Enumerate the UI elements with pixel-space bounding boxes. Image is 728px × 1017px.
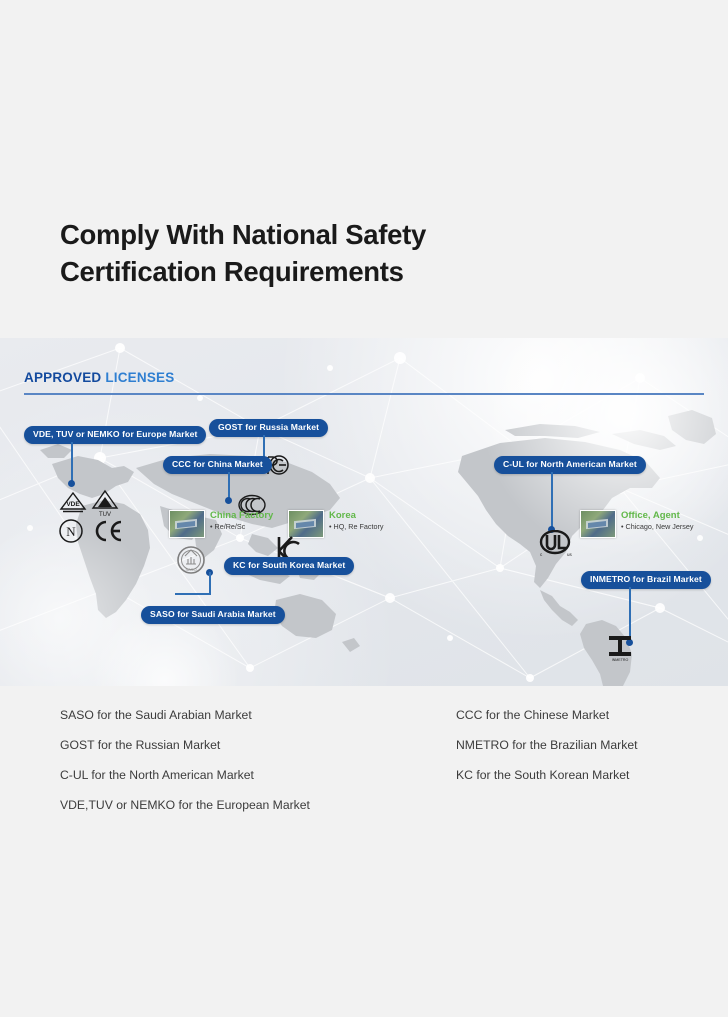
- facility-photo-china: [169, 510, 205, 538]
- nemko-mark-icon: N: [58, 518, 84, 544]
- facility-name-korea: Korea: [329, 510, 383, 521]
- tuv-mark-icon: TUV: [90, 488, 120, 518]
- facility-sub-china: • Re/Re/Sc: [210, 522, 273, 532]
- inmetro-mark-icon: INMETRO: [605, 632, 635, 662]
- leader-line-europe: [71, 442, 73, 482]
- list-item: NMETRO for the Brazilian Market: [456, 730, 638, 760]
- license-list-left-column: SASO for the Saudi Arabian Market GOST f…: [60, 700, 310, 820]
- leader-dot-china: [225, 497, 232, 504]
- page-title-line-2: Certification Requirements: [60, 253, 620, 290]
- page-root: Comply With National Safety Certificatio…: [0, 0, 728, 1017]
- ul-mark-icon: c us: [536, 530, 574, 558]
- badge-korea[interactable]: KC for South Korea Market: [224, 557, 354, 575]
- facility-name-office: Office, Agent: [621, 510, 693, 521]
- svg-text:SASO: SASO: [185, 567, 196, 572]
- leader-line-saudi-h: [175, 593, 211, 595]
- world-map-panel: APPROVED LICENSES VDE, TUV or NEMKO for …: [0, 338, 728, 686]
- badge-brazil[interactable]: INMETRO for Brazil Market: [581, 571, 711, 589]
- leader-line-north-america: [551, 472, 553, 528]
- license-list-right-column: CCC for the Chinese Market NMETRO for th…: [456, 700, 638, 790]
- list-item: VDE,TUV or NEMKO for the European Market: [60, 790, 310, 820]
- leader-dot-europe: [68, 480, 75, 487]
- leader-line-saudi-v: [209, 572, 211, 594]
- ce-mark-icon: [90, 518, 124, 544]
- svg-text:VDE: VDE: [66, 501, 80, 508]
- svg-text:c: c: [540, 552, 543, 557]
- svg-text:us: us: [567, 552, 573, 557]
- page-title: Comply With National Safety Certificatio…: [60, 216, 620, 290]
- page-title-line-1: Comply With National Safety: [60, 216, 620, 253]
- facility-photo-office: [580, 510, 616, 538]
- heading-approved: APPROVED: [24, 370, 101, 385]
- badge-russia[interactable]: GOST for Russia Market: [209, 419, 328, 437]
- facility-china-factory: China Factory • Re/Re/Sc: [169, 510, 273, 538]
- list-item: C-UL for the North American Market: [60, 760, 310, 790]
- svg-text:N: N: [66, 524, 76, 539]
- facility-name-china: China Factory: [210, 510, 273, 521]
- vde-mark-icon: VDE: [58, 490, 88, 516]
- leader-line-china: [228, 472, 230, 499]
- facility-office-agent: Office, Agent • Chicago, New Jersey: [580, 510, 693, 538]
- saso-mark-icon: SASO: [176, 545, 206, 575]
- heading-licenses: LICENSES: [105, 370, 174, 385]
- svg-text:INMETRO: INMETRO: [612, 658, 629, 662]
- badge-north-america[interactable]: C-UL for North American Market: [494, 456, 646, 474]
- heading-divider: [24, 393, 704, 395]
- list-item: KC for the South Korean Market: [456, 760, 638, 790]
- facility-korea: Korea • HQ, Re Factory: [288, 510, 383, 538]
- facility-sub-office: • Chicago, New Jersey: [621, 522, 693, 532]
- list-item: SASO for the Saudi Arabian Market: [60, 700, 310, 730]
- badge-china[interactable]: CCC for China Market: [163, 456, 272, 474]
- badge-europe[interactable]: VDE, TUV or NEMKO for Europe Market: [24, 426, 206, 444]
- list-item: CCC for the Chinese Market: [456, 700, 638, 730]
- list-item: GOST for the Russian Market: [60, 730, 310, 760]
- approved-licenses-heading: APPROVED LICENSES: [24, 370, 174, 385]
- facility-sub-korea: • HQ, Re Factory: [329, 522, 383, 532]
- badge-saudi[interactable]: SASO for Saudi Arabia Market: [141, 606, 285, 624]
